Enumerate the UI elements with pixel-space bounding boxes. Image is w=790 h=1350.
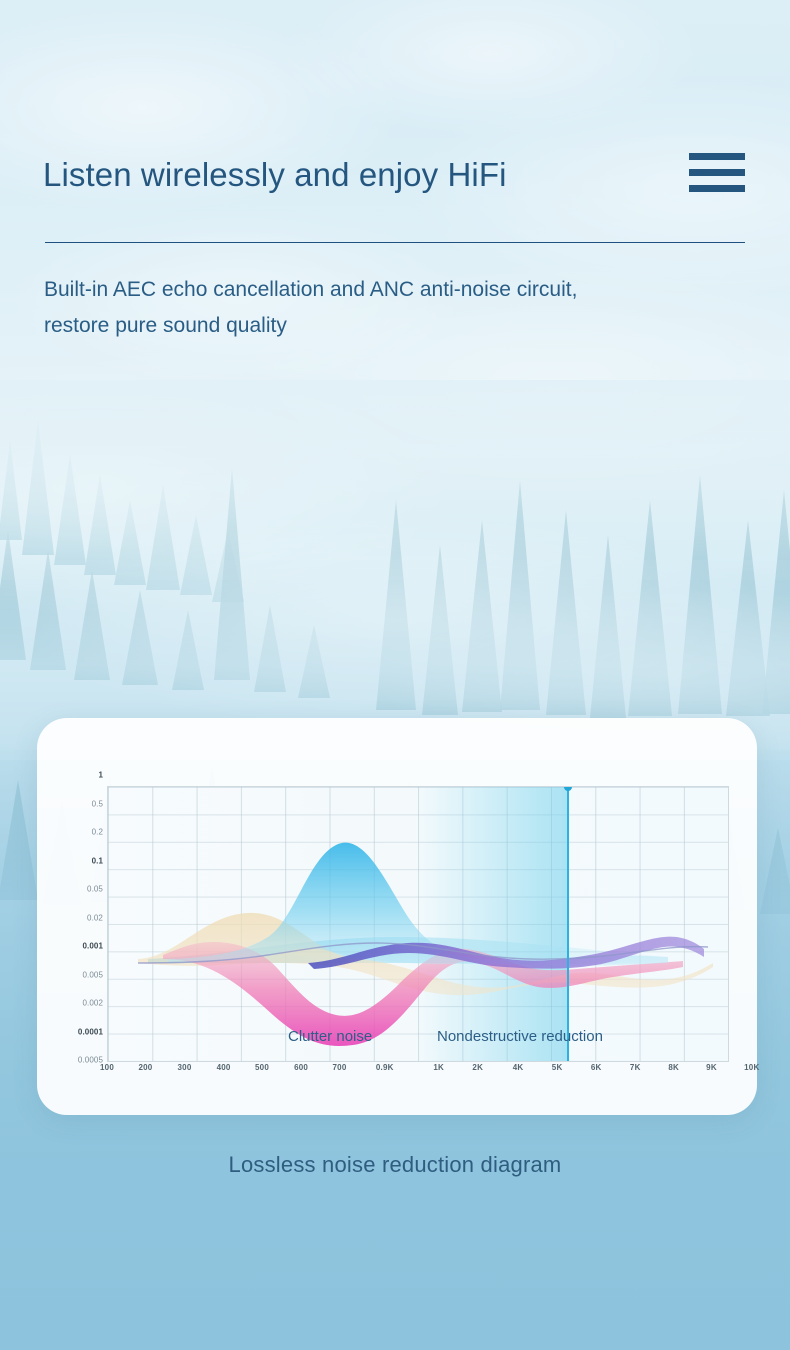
x-tick: 1K (433, 1063, 444, 1072)
chart-waveforms (108, 787, 728, 1061)
x-tick: 400 (217, 1063, 231, 1072)
hamburger-menu-icon[interactable] (689, 153, 745, 192)
page-title: Listen wirelessly and enjoy HiFi (43, 157, 507, 193)
y-tick: 0.2 (92, 828, 103, 837)
hamburger-bar-bottom (689, 185, 745, 192)
y-tick: 0.005 (82, 970, 103, 979)
title-row: Listen wirelessly and enjoy HiFi (43, 157, 750, 193)
x-tick: 700 (333, 1063, 347, 1072)
header-divider (45, 242, 745, 243)
x-tick: 7K (630, 1063, 641, 1072)
chart-container: 1 0.5 0.2 0.1 0.05 0.02 0.001 0.005 0.00… (37, 718, 757, 1115)
chart-marker-line (567, 787, 569, 1061)
y-tick: 0.5 (92, 799, 103, 808)
page-subtitle: Built-in AEC echo cancellation and ANC a… (44, 272, 644, 344)
x-tick: 10K (744, 1063, 759, 1072)
chart-card: 1 0.5 0.2 0.1 0.05 0.02 0.001 0.005 0.00… (37, 718, 757, 1115)
chart-y-axis: 1 0.5 0.2 0.1 0.05 0.02 0.001 0.005 0.00… (55, 775, 103, 1060)
chart-annotation-clutter-noise: Clutter noise (288, 1028, 372, 1045)
page-root: Listen wirelessly and enjoy HiFi Built-i… (0, 0, 790, 1350)
x-tick: 500 (255, 1063, 269, 1072)
y-tick: 0.05 (87, 885, 103, 894)
x-tick: 8K (668, 1063, 679, 1072)
y-tick: 0.1 (92, 856, 103, 865)
y-tick: 0.001 (82, 942, 103, 951)
chart-caption: Lossless noise reduction diagram (0, 1152, 790, 1178)
hamburger-bar-middle (689, 169, 745, 176)
y-tick: 0.0001 (78, 1027, 103, 1036)
x-tick: 6K (591, 1063, 602, 1072)
x-tick: 300 (178, 1063, 192, 1072)
y-tick: 1 (98, 771, 103, 780)
y-tick: 0.002 (82, 999, 103, 1008)
chart-annotation-nondestructive-reduction: Nondestructive reduction (437, 1028, 603, 1045)
chart-plot-area (107, 786, 729, 1062)
hamburger-bar-top (689, 153, 745, 160)
x-tick: 100 (100, 1063, 114, 1072)
chart-x-axis: 100 200 300 400 500 600 700 0.9K 1K 2K 4… (107, 1063, 727, 1079)
x-tick: 600 (294, 1063, 308, 1072)
x-tick: 9K (706, 1063, 717, 1072)
x-tick: 2K (472, 1063, 483, 1072)
x-tick: 0.9K (376, 1063, 394, 1072)
y-tick: 0.02 (87, 913, 103, 922)
x-tick: 5K (552, 1063, 563, 1072)
background-photo (0, 0, 790, 1350)
x-tick: 4K (513, 1063, 524, 1072)
x-tick: 200 (138, 1063, 152, 1072)
